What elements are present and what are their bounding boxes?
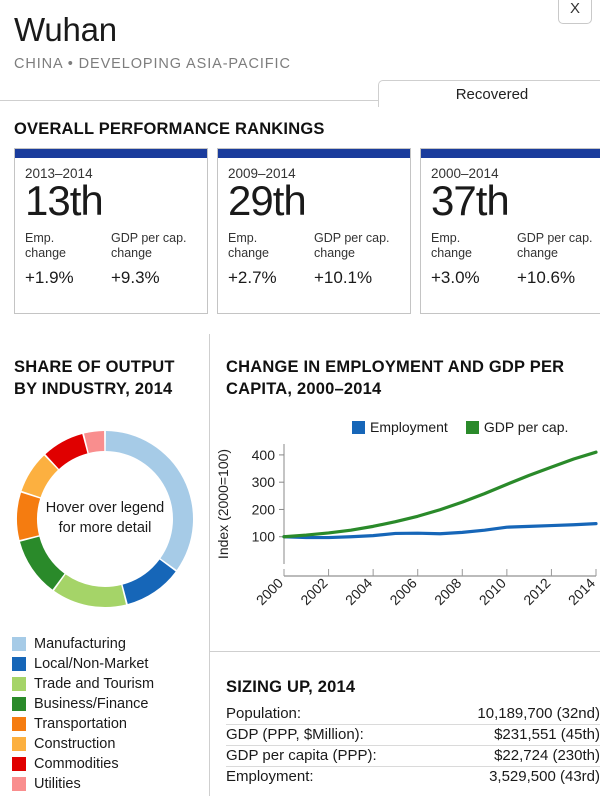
legend-swatch [12, 637, 26, 651]
legend-swatch [12, 677, 26, 691]
emp-change-value: +1.9% [25, 268, 111, 288]
ranking-card-metrics: Emp.change+1.9%GDP per cap.change+9.3% [25, 231, 197, 288]
y-axis-tick-label: 400 [252, 447, 276, 463]
y-axis-tick-label: 300 [252, 474, 276, 490]
legend-swatch [12, 717, 26, 731]
ranking-card-rank: 29th [228, 179, 400, 223]
page-subtitle: CHINA • DEVELOPING ASIA-PACIFIC [14, 56, 291, 72]
gdp-change-label: GDP per cap.change [314, 231, 400, 261]
ranking-card-accent-bar [421, 149, 600, 158]
emp-change-label: Emp.change [228, 231, 314, 261]
legend-item[interactable]: Construction [12, 734, 207, 754]
donut-title-line1: SHARE OF OUTPUT [14, 356, 204, 378]
ranking-card-body: 2009–201429thEmp.change+2.7%GDP per cap.… [218, 158, 410, 313]
close-button[interactable]: X [558, 0, 592, 24]
legend-label: Business/Finance [34, 696, 148, 712]
legend-swatch [12, 757, 26, 771]
emp-change-metric: Emp.change+1.9% [25, 231, 111, 288]
legend-item[interactable]: Local/Non-Market [12, 654, 207, 674]
legend-item[interactable]: Transportation [12, 714, 207, 734]
x-axis-tick-label: 2004 [342, 575, 375, 608]
line-chart-legend: EmploymentGDP per cap. [352, 419, 568, 435]
gdp-change-metric: GDP per cap.change+10.6% [517, 231, 600, 288]
rankings-card-list: 2013–201413thEmp.change+1.9%GDP per cap.… [14, 148, 600, 314]
legend-swatch [12, 737, 26, 751]
donut-section-title: SHARE OF OUTPUT BY INDUSTRY, 2014 [14, 356, 204, 401]
page-title: Wuhan [14, 13, 117, 46]
x-axis-tick-label: 2006 [386, 575, 419, 608]
y-axis-title: Index (2000=100) [215, 449, 231, 559]
x-axis-tick-label: 2014 [565, 575, 598, 608]
line-legend-item[interactable]: GDP per cap. [466, 419, 569, 435]
legend-swatch [12, 697, 26, 711]
table-row-value: 3,529,500 (43rd) [489, 768, 600, 785]
city-report-panel: X Wuhan CHINA • DEVELOPING ASIA-PACIFIC … [0, 0, 600, 796]
gdp-change-label: GDP per cap.change [111, 231, 197, 261]
x-axis-tick-label: 2010 [476, 575, 509, 608]
ranking-card-body: 2013–201413thEmp.change+1.9%GDP per cap.… [15, 158, 207, 313]
line-title-line1: CHANGE IN EMPLOYMENT AND GDP PER [226, 356, 596, 378]
emp-change-value: +2.7% [228, 268, 314, 288]
ranking-card: 2009–201429thEmp.change+2.7%GDP per cap.… [217, 148, 411, 314]
legend-swatch [12, 777, 26, 791]
ranking-card-rank: 13th [25, 179, 197, 223]
table-row-label: Employment: [226, 768, 314, 785]
line-series-employment [284, 524, 596, 538]
donut-title-line2: BY INDUSTRY, 2014 [14, 378, 204, 400]
sizing-up-table: Population:10,189,700 (32nd)GDP (PPP, $M… [226, 704, 600, 787]
line-chart-title: CHANGE IN EMPLOYMENT AND GDP PER CAPITA,… [226, 356, 596, 401]
legend-item[interactable]: Utilities [12, 774, 207, 794]
close-icon: X [570, 0, 580, 17]
rankings-section-title: OVERALL PERFORMANCE RANKINGS [14, 120, 325, 139]
emp-change-metric: Emp.change+2.7% [228, 231, 314, 288]
donut-svg [10, 424, 200, 614]
gdp-change-value: +10.1% [314, 268, 400, 288]
donut-segment[interactable] [17, 493, 40, 540]
legend-label: Utilities [34, 776, 81, 792]
ranking-card-body: 2000–201437thEmp.change+3.0%GDP per cap.… [421, 158, 600, 313]
ranking-card-metrics: Emp.change+3.0%GDP per cap.change+10.6% [431, 231, 600, 288]
legend-label: Trade and Tourism [34, 676, 154, 692]
line-legend-item[interactable]: Employment [352, 419, 448, 435]
tab-recovered[interactable]: Recovered [378, 80, 600, 107]
industry-legend: ManufacturingLocal/Non-MarketTrade and T… [12, 634, 207, 794]
line-legend-label: GDP per cap. [484, 419, 569, 435]
table-row-label: GDP (PPP, $Million): [226, 726, 364, 743]
line-chart-svg: 100200300400Index (2000=100)200020022004… [212, 436, 600, 616]
donut-segment[interactable] [123, 560, 176, 604]
legend-label: Local/Non-Market [34, 656, 148, 672]
table-row-value: $231,551 (45th) [494, 726, 600, 743]
sizing-up-title: SIZING UP, 2014 [226, 678, 355, 697]
table-row: GDP per capita (PPP):$22,724 (230th) [226, 746, 600, 767]
table-row: Employment:3,529,500 (43rd) [226, 767, 600, 787]
table-row: Population:10,189,700 (32nd) [226, 704, 600, 725]
x-axis-tick-label: 2002 [297, 575, 330, 608]
gdp-change-metric: GDP per cap.change+9.3% [111, 231, 197, 288]
row-divider [210, 651, 600, 652]
x-axis-tick-label: 2000 [253, 575, 286, 608]
line-title-line2: CAPITA, 2000–2014 [226, 378, 596, 400]
table-row-label: Population: [226, 705, 301, 722]
emp-change-metric: Emp.change+3.0% [431, 231, 517, 288]
legend-item[interactable]: Commodities [12, 754, 207, 774]
legend-item[interactable]: Manufacturing [12, 634, 207, 654]
table-row-value: 10,189,700 (32nd) [477, 705, 600, 722]
donut-segment[interactable] [84, 431, 104, 453]
ranking-card: 2013–201413thEmp.change+1.9%GDP per cap.… [14, 148, 208, 314]
y-axis-tick-label: 100 [252, 529, 276, 545]
industry-donut-chart[interactable]: Hover over legend for more detail [10, 424, 200, 614]
ranking-card-accent-bar [15, 149, 207, 158]
table-row-label: GDP per capita (PPP): [226, 747, 377, 764]
emp-change-label: Emp.change [431, 231, 517, 261]
legend-label: Commodities [34, 756, 119, 772]
line-chart-area: 100200300400Index (2000=100)200020022004… [212, 436, 600, 616]
tab-recovered-label: Recovered [456, 86, 529, 103]
gdp-change-metric: GDP per cap.change+10.1% [314, 231, 400, 288]
ranking-card: 2000–201437thEmp.change+3.0%GDP per cap.… [420, 148, 600, 314]
line-legend-swatch [352, 421, 365, 434]
ranking-card-metrics: Emp.change+2.7%GDP per cap.change+10.1% [228, 231, 400, 288]
legend-label: Manufacturing [34, 636, 126, 652]
line-legend-label: Employment [370, 419, 448, 435]
line-legend-swatch [466, 421, 479, 434]
table-row: GDP (PPP, $Million):$231,551 (45th) [226, 725, 600, 746]
donut-segment[interactable] [20, 537, 64, 590]
x-axis-tick-label: 2008 [431, 575, 464, 608]
legend-item[interactable]: Business/Finance [12, 694, 207, 714]
column-divider [209, 334, 210, 796]
table-row-value: $22,724 (230th) [494, 747, 600, 764]
donut-segment[interactable] [54, 574, 126, 607]
legend-item[interactable]: Trade and Tourism [12, 674, 207, 694]
gdp-change-label: GDP per cap.change [517, 231, 600, 261]
y-axis-tick-label: 200 [252, 501, 276, 517]
x-axis-tick-label: 2012 [520, 575, 553, 608]
gdp-change-value: +9.3% [111, 268, 197, 288]
emp-change-label: Emp.change [25, 231, 111, 261]
legend-label: Transportation [34, 716, 127, 732]
gdp-change-value: +10.6% [517, 268, 600, 288]
ranking-card-rank: 37th [431, 179, 600, 223]
emp-change-value: +3.0% [431, 268, 517, 288]
legend-swatch [12, 657, 26, 671]
legend-label: Construction [34, 736, 115, 752]
donut-segment[interactable] [106, 431, 193, 570]
ranking-card-accent-bar [218, 149, 410, 158]
